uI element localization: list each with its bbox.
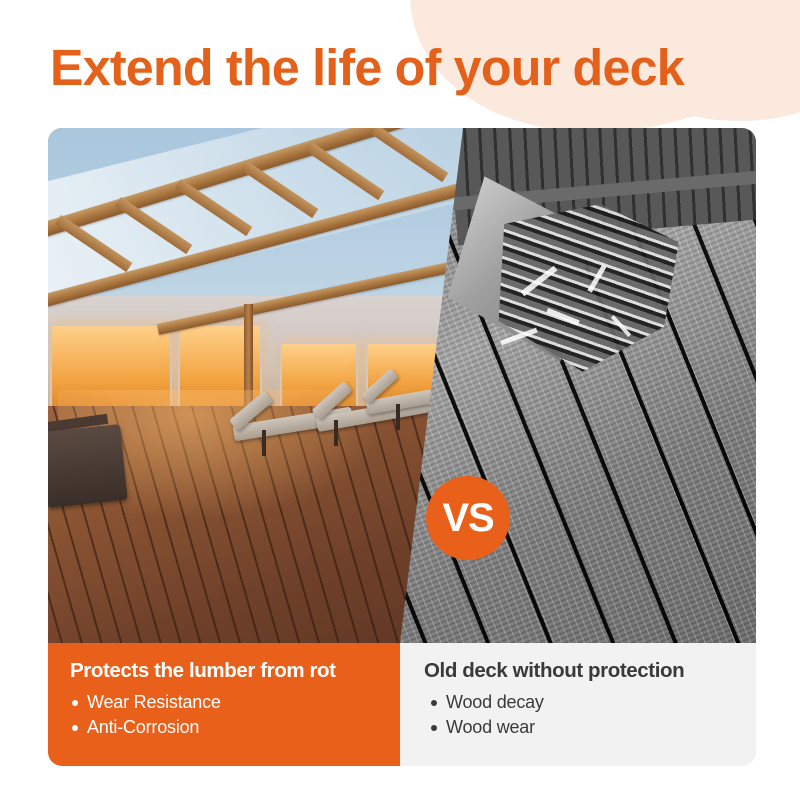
- list-item: Anti-Corrosion: [70, 715, 378, 740]
- panel-unprotected-issues: Wood decay Wood wear: [422, 690, 734, 740]
- comparison-panels: Protects the lumber from rot Wear Resist…: [48, 643, 756, 766]
- vs-badge: VS: [426, 476, 510, 560]
- comparison-card: VS Protects the lumber from rot Wear Res…: [48, 128, 756, 766]
- lounge-chair-leg: [334, 420, 338, 446]
- list-item: Wear Resistance: [70, 690, 378, 715]
- page-title: Extend the life of your deck: [50, 39, 769, 97]
- list-item: Wood wear: [422, 715, 734, 740]
- lounge-chair-leg: [262, 430, 266, 456]
- list-item: Wood decay: [422, 690, 734, 715]
- comparison-photos: VS: [48, 128, 756, 643]
- panel-unprotected-title: Old deck without protection: [422, 659, 734, 683]
- panel-protected-title: Protects the lumber from rot: [70, 659, 378, 683]
- panel-protected-benefits: Wear Resistance Anti-Corrosion: [70, 690, 378, 740]
- patio-chair: [48, 424, 128, 508]
- lounge-chair-leg: [396, 404, 400, 430]
- promo-poster: Extend the life of your deck: [0, 0, 800, 800]
- panel-protected-deck: Protects the lumber from rot Wear Resist…: [48, 643, 400, 766]
- vs-badge-label: VS: [442, 498, 493, 538]
- panel-unprotected-deck: Old deck without protection Wood decay W…: [400, 643, 756, 766]
